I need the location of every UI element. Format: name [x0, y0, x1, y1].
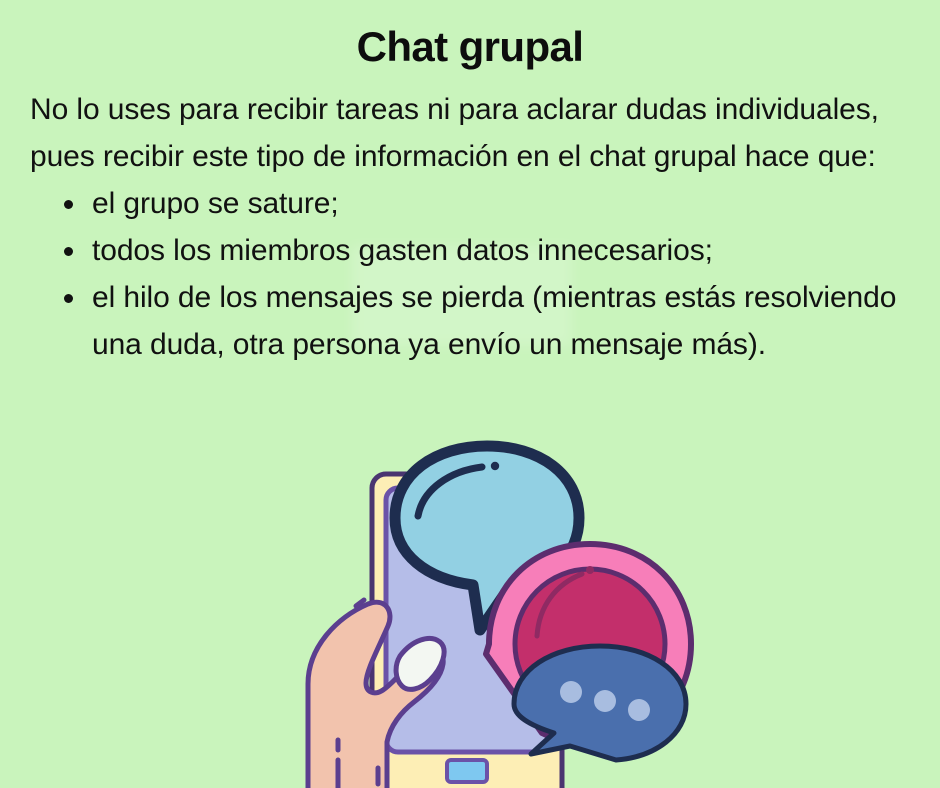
typing-dot-1 — [560, 681, 582, 703]
chat-illustration — [290, 440, 640, 788]
list-item-label: el hilo de los mensajes se pierda (mient… — [92, 281, 896, 361]
page-title: Chat grupal — [0, 0, 940, 72]
bullet-dot-icon — [64, 247, 73, 256]
bubble-blue-highlight-dot — [491, 462, 499, 470]
consequences-list: el grupo se sature; todos los miembros g… — [0, 180, 940, 368]
list-item: el grupo se sature; — [0, 180, 940, 227]
typing-dot-3 — [628, 699, 650, 721]
bullet-dot-icon — [64, 200, 73, 209]
list-item-label: todos los miembros gasten datos innecesa… — [92, 234, 713, 267]
list-item: todos los miembros gasten datos innecesa… — [0, 227, 940, 274]
bubble-pink-highlight-dot — [586, 566, 594, 574]
list-item: el hilo de los mensajes se pierda (mient… — [0, 274, 940, 368]
list-item-label: el grupo se sature; — [92, 187, 339, 220]
text-content: Chat grupal No lo uses para recibir tare… — [0, 0, 940, 368]
bubble-darkblue — [514, 646, 686, 760]
bullet-dot-icon — [64, 294, 73, 303]
slide-root: Chat grupal No lo uses para recibir tare… — [0, 0, 940, 788]
intro-paragraph: No lo uses para recibir tareas ni para a… — [0, 72, 940, 180]
phone-home-button — [447, 760, 487, 782]
typing-dot-2 — [594, 690, 616, 712]
